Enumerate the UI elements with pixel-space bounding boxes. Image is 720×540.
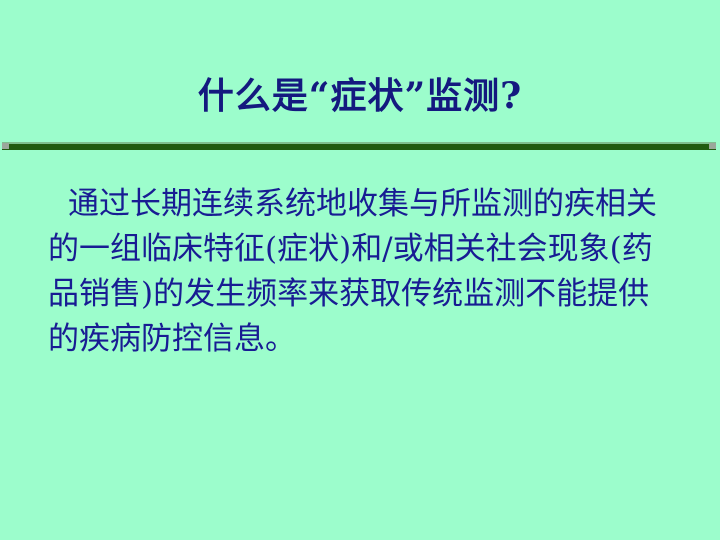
divider-bar [2,144,716,150]
slide-body-placeholder: 通过长期连续系统地收集与所监测的疾相关的一组临床特征(症状)和/或相关社会现象(… [48,182,680,362]
slide-title-placeholder: 什么是“症状”监测? [0,58,720,136]
title-divider [2,142,716,150]
divider-cap-left-icon [2,143,9,149]
page-title: 什么是“症状”监测? [198,76,523,117]
divider-cap-right-icon [709,143,716,149]
body-paragraph: 通过长期连续系统地收集与所监测的疾相关的一组临床特征(症状)和/或相关社会现象(… [48,182,680,362]
presentation-slide: 什么是“症状”监测? 通过长期连续系统地收集与所监测的疾相关的一组临床特征(症状… [0,0,720,540]
